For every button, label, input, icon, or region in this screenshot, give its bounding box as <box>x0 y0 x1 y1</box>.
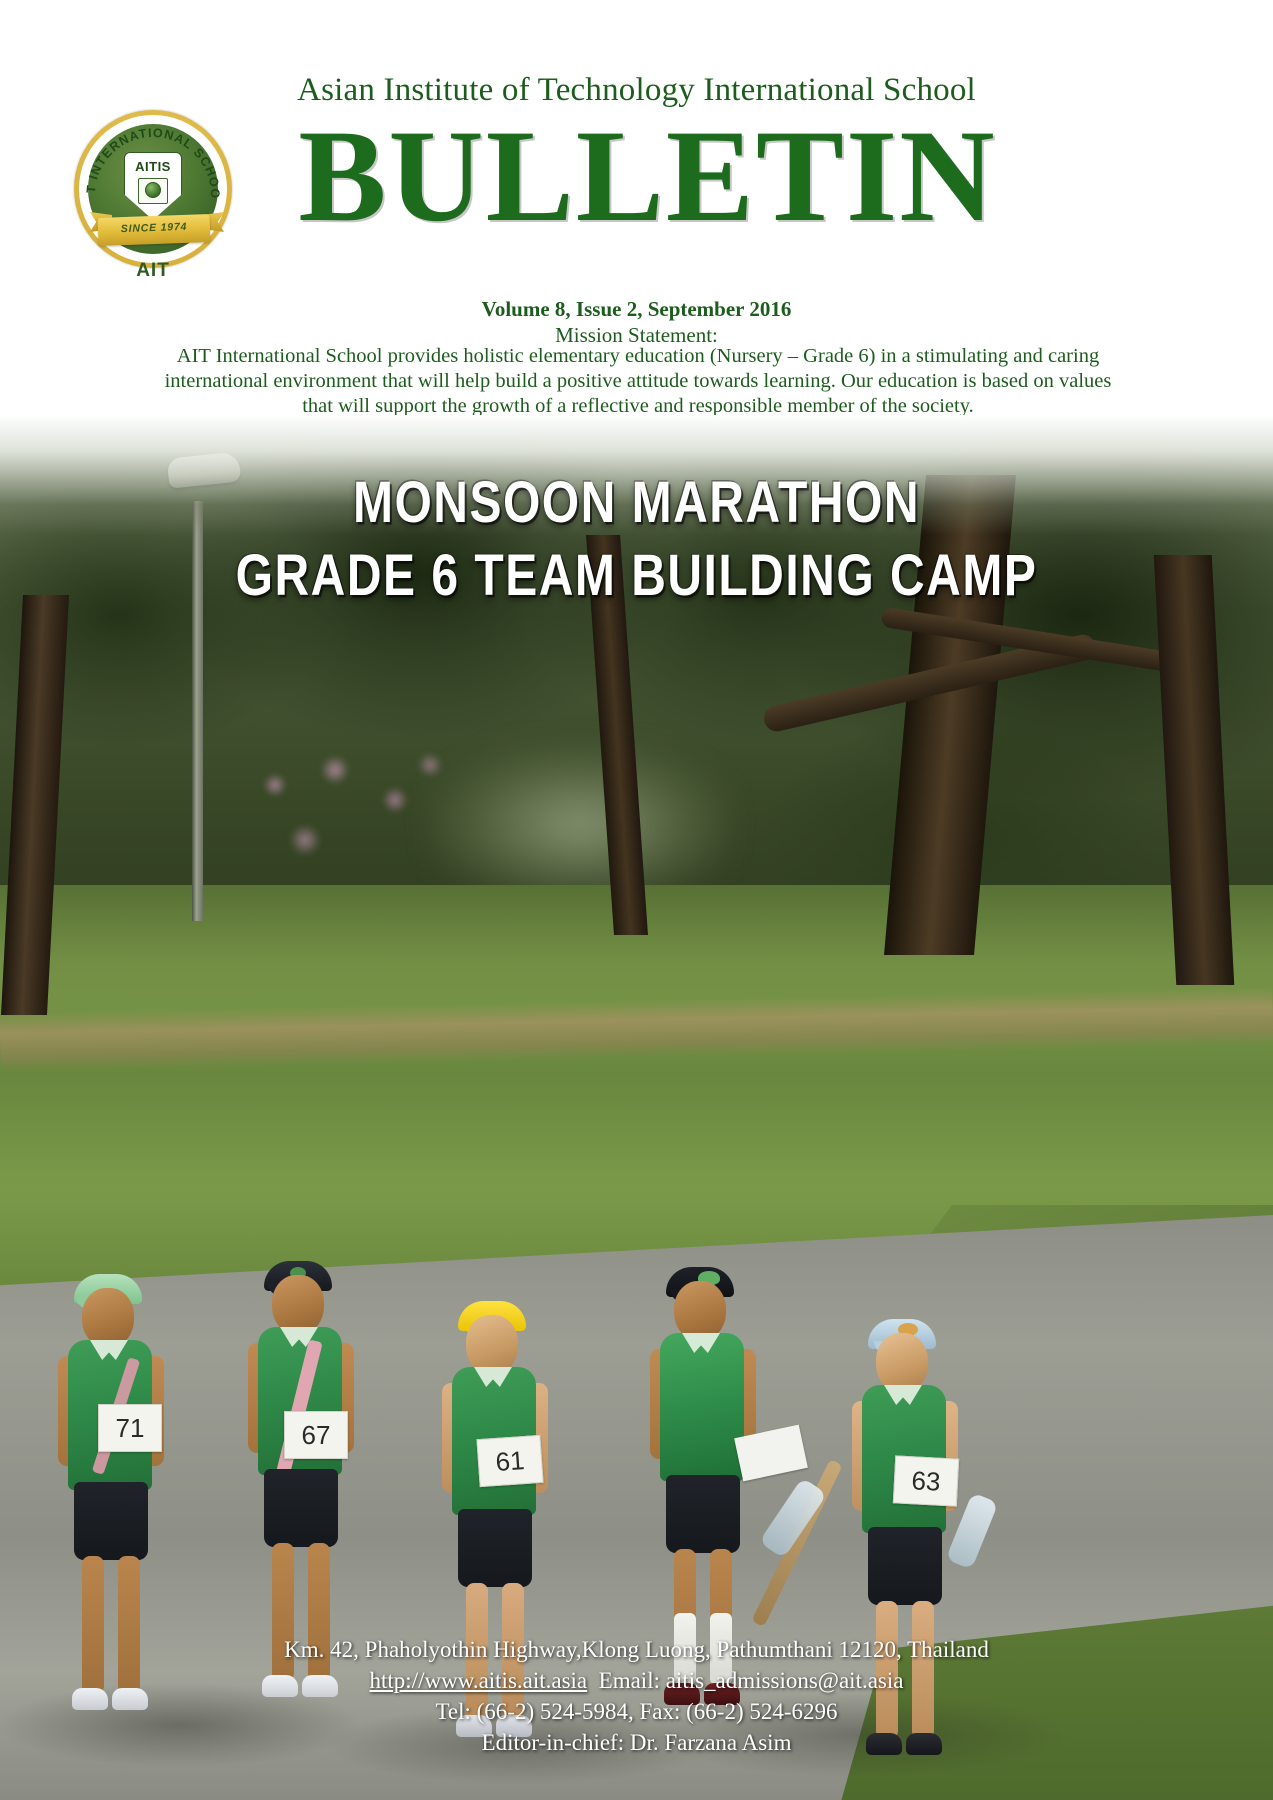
mission-statement-body: AIT International School provides holist… <box>78 344 1198 419</box>
race-bib-number: 67 <box>285 1412 347 1458</box>
masthead: Asian Institute of Technology Internatio… <box>0 0 1273 290</box>
student-shorts <box>264 1469 338 1547</box>
student-head <box>466 1315 518 1375</box>
photo-background-gap <box>430 745 730 905</box>
race-bib: 67 <box>284 1411 348 1459</box>
bulletin-cover-page: Asian Institute of Technology Internatio… <box>0 0 1273 1800</box>
school-logo: AIT INTERNATIONAL SCHOOL AITIS SINCE 197… <box>66 108 242 278</box>
website-link[interactable]: http://www.aitis.ait.asia <box>370 1668 588 1693</box>
student-shorts <box>666 1475 740 1553</box>
footer-email[interactable]: Email: aitis_admissions@ait.asia <box>599 1668 904 1693</box>
footer-address: Km. 42, Phaholyothin Highway,Klong Luong… <box>0 1634 1273 1665</box>
footer-phone: Tel: (66-2) 524-5984, Fax: (66-2) 524-62… <box>0 1696 1273 1727</box>
cover-headline-line-1: Monsoon Marathon <box>0 467 1273 540</box>
race-bib: 71 <box>98 1404 162 1452</box>
photo-flowering-shrub <box>245 745 475 885</box>
footer-contact-block: Km. 42, Phaholyothin Highway,Klong Luong… <box>0 1634 1273 1758</box>
student-shorts <box>458 1509 532 1587</box>
race-bib-number: 61 <box>477 1436 542 1486</box>
student-shirt <box>660 1333 744 1481</box>
volume-issue-line: Volume 8, Issue 2, September 2016 <box>0 297 1273 322</box>
mission-line-2: international environment that will help… <box>78 369 1198 394</box>
race-bib-number: 63 <box>894 1456 958 1505</box>
race-bib-number: 71 <box>99 1405 161 1451</box>
footer-editor: Editor-in-chief: Dr. Farzana Asim <box>0 1727 1273 1758</box>
student-head <box>674 1281 726 1341</box>
globe-icon <box>145 182 161 198</box>
cover-headline: Monsoon Marathon Grade 6 Team Building C… <box>0 467 1273 613</box>
footer-web-email: http://www.aitis.ait.asia Email: aitis_a… <box>0 1665 1273 1696</box>
student-head <box>876 1333 928 1393</box>
student-head <box>272 1275 324 1335</box>
logo-ait-caption: AIT <box>74 260 232 282</box>
cover-photo: 71 67 <box>0 415 1273 1800</box>
student-shorts <box>74 1482 148 1560</box>
shield-label: AITIS <box>124 159 182 174</box>
race-bib: 63 <box>893 1455 959 1506</box>
mission-line-1: AIT International School provides holist… <box>78 344 1198 369</box>
race-bib: 61 <box>476 1435 543 1487</box>
student-head <box>82 1288 134 1348</box>
cover-headline-line-2: Grade 6 Team Building Camp <box>0 540 1273 613</box>
student-shorts <box>868 1527 942 1605</box>
